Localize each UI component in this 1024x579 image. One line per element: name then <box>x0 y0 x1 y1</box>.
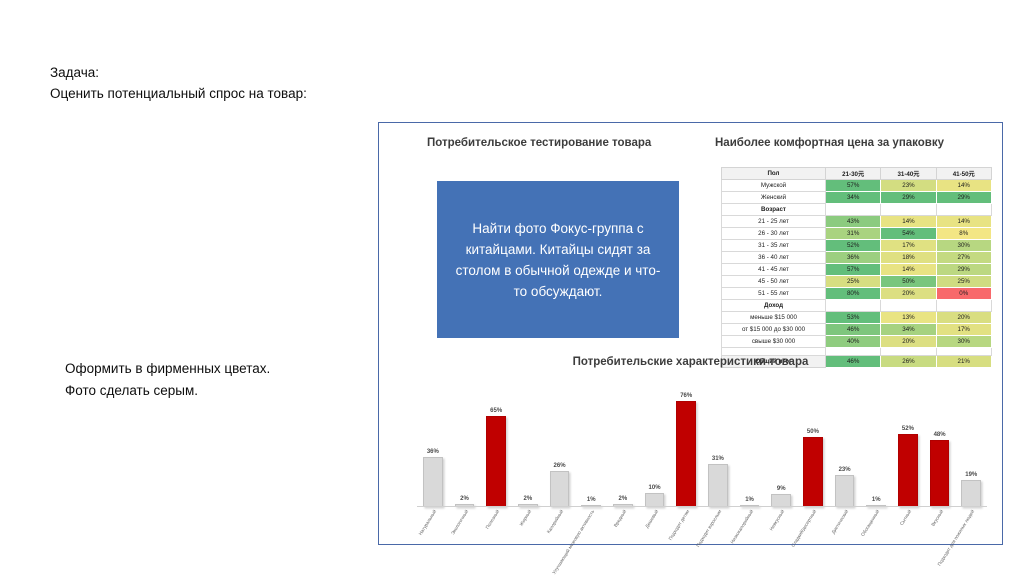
chart-bar-value-label: 23% <box>839 467 851 474</box>
chart-bar-value-label: 36% <box>427 449 439 456</box>
chart-category-label: Низкокалорийный <box>729 509 755 545</box>
chart-category-slot: Дешевый <box>639 509 671 579</box>
chart-bar: 50% <box>797 379 829 507</box>
price-table-cell: 31% <box>826 228 881 240</box>
price-table-row: 41 - 45 лет57%14%29% <box>722 264 992 276</box>
price-table-cell: 17% <box>936 324 991 336</box>
chart-bar: 36% <box>417 379 449 507</box>
price-table-row-label: 41 - 45 лет <box>722 264 826 276</box>
price-table-cell: 36% <box>826 252 881 264</box>
chart-category-label: Обогащенный <box>860 509 881 538</box>
price-table-cell: 30% <box>936 240 991 252</box>
price-table-row-label: 51 - 55 лет <box>722 288 826 300</box>
chart-axis-line <box>417 506 987 507</box>
photo-placeholder-box: Найти фото Фокус-группа с китайцами. Кит… <box>437 181 679 338</box>
price-table-cell: 14% <box>936 216 991 228</box>
price-table-spacer-cell <box>826 348 881 356</box>
chart-category-slot: Диетический <box>829 509 861 579</box>
chart-category-label: Сытный <box>899 509 913 527</box>
chart-bar-rect <box>486 416 506 507</box>
price-table-cell <box>826 204 881 216</box>
price-table-cell: 8% <box>936 228 991 240</box>
price-table-cell: 50% <box>881 276 936 288</box>
chart-bar-rect <box>550 471 570 507</box>
chart-category-slot: Обогащенный <box>860 509 892 579</box>
price-table-cell: 27% <box>936 252 991 264</box>
price-table-cell: 54% <box>881 228 936 240</box>
notes-line-2: Фото сделать серым. <box>65 380 270 402</box>
price-table-row-label: свыше $30 000 <box>722 336 826 348</box>
chart-bar: 31% <box>702 379 734 507</box>
chart-bar: 48% <box>924 379 956 507</box>
chart-bar: 1% <box>860 379 892 507</box>
consumer-characteristics-chart: 36%2%65%2%26%1%2%10%76%31%1%9%50%23%1%52… <box>417 379 987 507</box>
price-table-row-label: 26 - 30 лет <box>722 228 826 240</box>
chart-bar-value-label: 1% <box>872 497 881 504</box>
chart-category-slot: Сладкий/десертный <box>797 509 829 579</box>
chart-category-slot: Улучшающий мозговую активность <box>575 509 607 579</box>
chart-bar: 19% <box>955 379 987 507</box>
chart-category-slot: Подходит для пожилых людей <box>955 509 987 579</box>
chart-bar-rect <box>835 475 855 507</box>
price-table-cell: 25% <box>826 276 881 288</box>
chart-category-slot: Низкокалорийный <box>734 509 766 579</box>
price-table-row-label: 45 - 50 лет <box>722 276 826 288</box>
price-table-spacer-cell <box>881 348 936 356</box>
chart-category-label: Экологичный <box>450 509 470 536</box>
price-table-cell: 52% <box>826 240 881 252</box>
price-table-cell: 20% <box>881 336 936 348</box>
chart-category-slot: Вредный <box>607 509 639 579</box>
chart-category-label: Натуральный <box>418 509 438 537</box>
chart-category-slot: Подходит взрослым <box>702 509 734 579</box>
price-table-row: 51 - 55 лет80%20%0% <box>722 288 992 300</box>
price-table-cell: 57% <box>826 180 881 192</box>
chart-bar-rect <box>803 437 823 507</box>
chart-bar-rect <box>645 493 665 507</box>
chart-bar-value-label: 26% <box>554 463 566 470</box>
price-table-cell: 40% <box>826 336 881 348</box>
price-table-cell <box>936 300 991 312</box>
price-table-cell: 20% <box>936 312 991 324</box>
price-table-col-2: 31-40元 <box>881 168 936 180</box>
price-table-cell: 57% <box>826 264 881 276</box>
chart-bar-rect <box>676 401 696 507</box>
slide-panel: Потребительское тестирование товара Наиб… <box>378 122 1003 545</box>
price-table-cell: 29% <box>936 264 991 276</box>
price-table-spacer-cell <box>936 348 991 356</box>
price-table-body: Мужской57%23%14%Женский34%29%29%Возраст2… <box>722 180 992 368</box>
price-table-cell: 23% <box>881 180 936 192</box>
price-table-row-label: Женский <box>722 192 826 204</box>
price-comfort-table: Пол 21-30元 31-40元 41-50元 Мужской57%23%14… <box>721 167 992 368</box>
chart-bar-value-label: 2% <box>619 496 628 503</box>
chart-category-label: Жирный <box>518 509 533 527</box>
price-table-cell: 13% <box>881 312 936 324</box>
chart-bar-value-label: 48% <box>934 432 946 439</box>
price-table-row-label: Возраст <box>722 204 826 216</box>
price-table-row: Мужской57%23%14% <box>722 180 992 192</box>
price-table-cell: 43% <box>826 216 881 228</box>
price-table-row: от $15 000 до $30 00046%34%17% <box>722 324 992 336</box>
chart-category-labels: НатуральныйЭкологичныйПолезныйЖирныйКало… <box>417 509 987 579</box>
price-table-row-label: Доход <box>722 300 826 312</box>
price-table-cell: 20% <box>881 288 936 300</box>
chart-bar-value-label: 76% <box>680 393 692 400</box>
price-table-row-label: от $15 000 до $30 000 <box>722 324 826 336</box>
chart-category-label: Вредный <box>613 509 628 528</box>
chart-bar-value-label: 1% <box>745 497 754 504</box>
chart-category-slot: Натуральный <box>417 509 449 579</box>
chart-bar: 10% <box>639 379 671 507</box>
price-table-cell <box>826 300 881 312</box>
price-table-row-label: 31 - 35 лет <box>722 240 826 252</box>
chart-bar-value-label: 31% <box>712 456 724 463</box>
price-table-cell: 17% <box>881 240 936 252</box>
price-table-cell <box>881 300 936 312</box>
price-table-cell: 14% <box>881 264 936 276</box>
price-table-row: меньше $15 00053%13%20% <box>722 312 992 324</box>
price-table-cell: 0% <box>936 288 991 300</box>
price-table-cell: 29% <box>881 192 936 204</box>
chart-bar: 2% <box>449 379 481 507</box>
chart-bar-value-label: 52% <box>902 426 914 433</box>
chart-bar-value-label: 50% <box>807 429 819 436</box>
chart-category-label: Калорийный <box>545 509 564 535</box>
chart-bars: 36%2%65%2%26%1%2%10%76%31%1%9%50%23%1%52… <box>417 379 987 507</box>
chart-bar-value-label: 1% <box>587 497 596 504</box>
chart-bar-value-label: 2% <box>524 496 533 503</box>
chart-bar-rect <box>930 440 950 507</box>
price-table-row: 36 - 40 лет36%18%27% <box>722 252 992 264</box>
task-line: Оценить потенциальный спрос на товар: <box>50 83 307 104</box>
price-table-col-0: Пол <box>722 168 826 180</box>
price-table-row: Доход <box>722 300 992 312</box>
price-table-col-3: 41-50元 <box>936 168 991 180</box>
price-table-cell: 34% <box>826 192 881 204</box>
price-table-cell <box>881 204 936 216</box>
price-table-row: 31 - 35 лет52%17%30% <box>722 240 992 252</box>
price-table-cell: 30% <box>936 336 991 348</box>
price-table-cell: 14% <box>881 216 936 228</box>
chart-bar-rect <box>423 457 443 507</box>
chart-bar: 65% <box>480 379 512 507</box>
price-table-cell: 25% <box>936 276 991 288</box>
chart-category-label: Диетический <box>830 509 849 535</box>
chart-bar: 1% <box>575 379 607 507</box>
chart-category-label: Подходит детям <box>668 509 691 542</box>
chart-category-label: Дешевый <box>644 509 660 529</box>
task-text-block: Задача: Оценить потенциальный спрос на т… <box>50 62 307 104</box>
chart-bar-rect <box>961 480 981 507</box>
price-table-row-label: меньше $15 000 <box>722 312 826 324</box>
price-table-row-label: 36 - 40 лет <box>722 252 826 264</box>
chart-category-label: Вкусный <box>930 509 945 528</box>
chart-bar: 2% <box>607 379 639 507</box>
price-table-cell <box>936 204 991 216</box>
chart-bar-value-label: 65% <box>490 408 502 415</box>
price-table-col-1: 21-30元 <box>826 168 881 180</box>
panel-title-right: Наиболее комфортная цена за упаковку <box>715 137 944 149</box>
chart-title: Потребительские характеристики товара <box>379 356 1002 368</box>
chart-bar-value-label: 19% <box>965 472 977 479</box>
price-table-spacer-row <box>722 348 992 356</box>
price-table-row: Возраст <box>722 204 992 216</box>
chart-category-slot: Полезный <box>480 509 512 579</box>
price-table-row: 21 - 25 лет43%14%14% <box>722 216 992 228</box>
chart-bar: 52% <box>892 379 924 507</box>
chart-bar: 9% <box>765 379 797 507</box>
task-heading: Задача: <box>50 62 307 83</box>
price-table-row-label: 21 - 25 лет <box>722 216 826 228</box>
notes-text-block: Оформить в фирменных цветах. Фото сделат… <box>65 358 270 402</box>
price-table-row: свыше $30 00040%20%30% <box>722 336 992 348</box>
price-table-cell: 18% <box>881 252 936 264</box>
price-table-spacer-cell <box>722 348 826 356</box>
chart-category-slot: Сытный <box>892 509 924 579</box>
price-table-cell: 29% <box>936 192 991 204</box>
chart-category-slot: Экологичный <box>449 509 481 579</box>
notes-line-1: Оформить в фирменных цветах. <box>65 358 270 380</box>
price-table-cell: 46% <box>826 324 881 336</box>
chart-bar: 1% <box>734 379 766 507</box>
price-table-row: 45 - 50 лет25%50%25% <box>722 276 992 288</box>
price-table-cell: 80% <box>826 288 881 300</box>
price-table-row-label: Мужской <box>722 180 826 192</box>
chart-bar-value-label: 9% <box>777 486 786 493</box>
chart-bar-value-label: 10% <box>649 485 661 492</box>
chart-bar: 2% <box>512 379 544 507</box>
price-table-cell: 53% <box>826 312 881 324</box>
price-table-header-row: Пол 21-30元 31-40元 41-50元 <box>722 168 992 180</box>
chart-bar-rect <box>898 434 918 507</box>
price-table-cell: 34% <box>881 324 936 336</box>
price-table-row: 26 - 30 лет31%54%8% <box>722 228 992 240</box>
panel-title-left: Потребительское тестирование товара <box>427 137 651 149</box>
chart-bar: 26% <box>544 379 576 507</box>
chart-category-label: Невкусный <box>769 509 786 532</box>
chart-bar-value-label: 2% <box>460 496 469 503</box>
price-table-row: Женский34%29%29% <box>722 192 992 204</box>
chart-bar-rect <box>708 464 728 507</box>
chart-category-slot: Жирный <box>512 509 544 579</box>
price-table-cell: 14% <box>936 180 991 192</box>
chart-bar: 23% <box>829 379 861 507</box>
photo-placeholder-text: Найти фото Фокус-группа с китайцами. Кит… <box>453 218 663 302</box>
chart-bar: 76% <box>670 379 702 507</box>
chart-category-label: Полезный <box>485 509 501 530</box>
